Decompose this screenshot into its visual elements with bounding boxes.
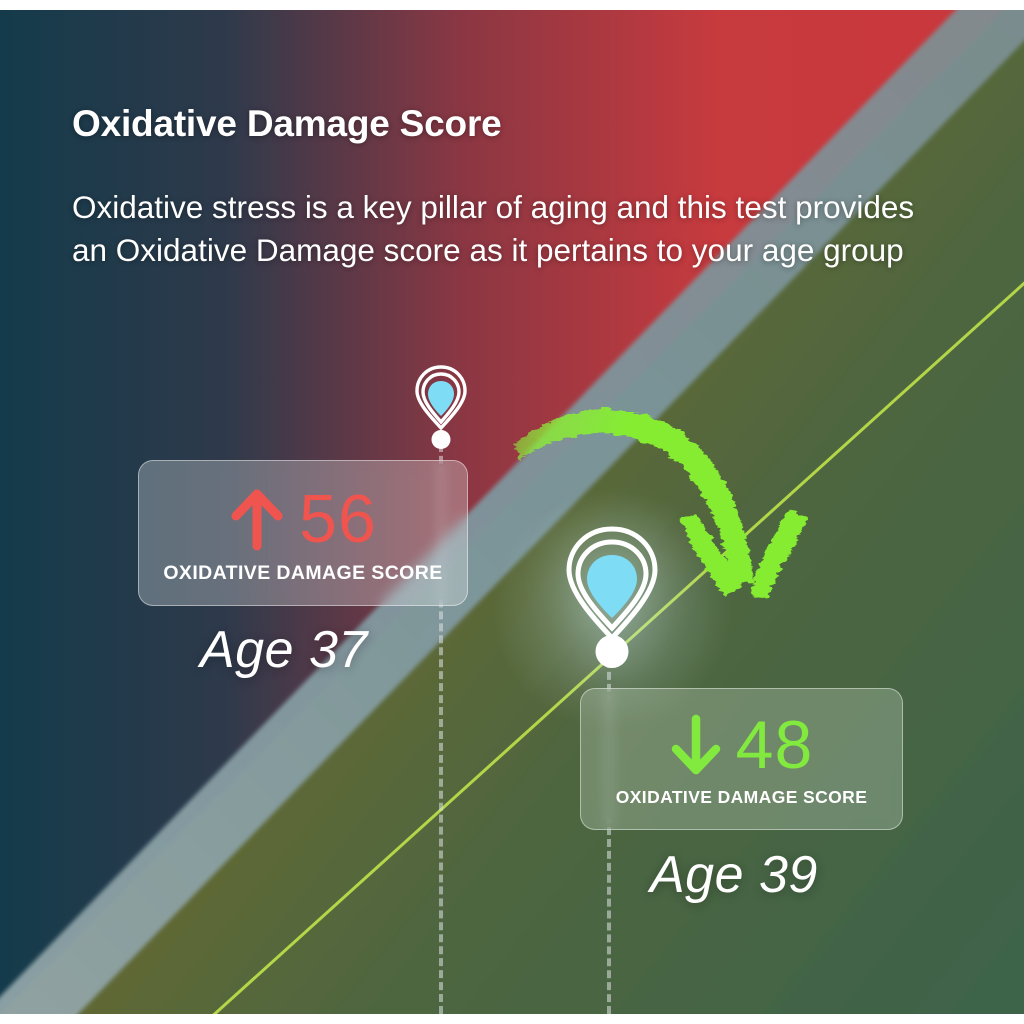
map-pin-base-dot	[432, 430, 451, 449]
map-pin-icon-previous[interactable]	[406, 358, 476, 456]
score-card-current-value-row: 48	[670, 714, 814, 777]
score-value-current: 48	[736, 714, 814, 777]
curved-arrow-icon	[500, 385, 810, 620]
page-description: Oxidative stress is a key pillar of agin…	[72, 186, 952, 272]
score-card-label-current: OXIDATIVE DAMAGE SCORE	[616, 787, 868, 808]
score-card-previous-value-row: 56	[229, 488, 377, 552]
infographic-canvas: Oxidative Damage Score Oxidative stress …	[0, 0, 1024, 1024]
score-card-current[interactable]: 48 OXIDATIVE DAMAGE SCORE	[580, 688, 903, 830]
score-value-previous: 56	[299, 488, 377, 551]
age-caption-previous: Age 37	[200, 620, 368, 680]
page-title: Oxidative Damage Score	[72, 103, 952, 145]
map-pin-base-dot	[596, 635, 629, 668]
score-card-label-previous: OXIDATIVE DAMAGE SCORE	[163, 562, 442, 585]
age-caption-current: Age 39	[650, 845, 818, 905]
score-card-previous[interactable]: 56 OXIDATIVE DAMAGE SCORE	[138, 460, 468, 606]
arrow-up-icon	[229, 488, 285, 552]
arrow-down-icon	[670, 714, 722, 776]
